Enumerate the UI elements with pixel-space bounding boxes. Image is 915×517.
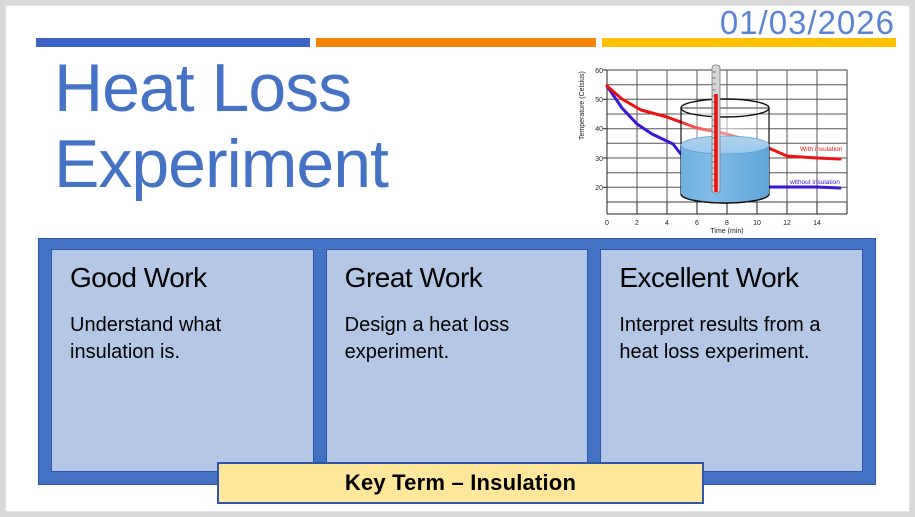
svg-text:0: 0 <box>605 220 609 227</box>
key-term-label: Key Term – Insulation <box>345 470 576 496</box>
svg-text:20: 20 <box>595 185 603 192</box>
page-title: Heat Loss Experiment <box>54 50 524 202</box>
chart-x-axis: 0 2 4 6 8 10 12 14 <box>605 220 821 227</box>
objective-card-excellent: Excellent Work Interpret results from a … <box>600 249 863 472</box>
slide-date: 01/03/2026 <box>720 6 895 42</box>
objectives-panel: Good Work Understand what insulation is.… <box>38 238 876 485</box>
svg-text:40: 40 <box>595 126 603 133</box>
objective-title: Excellent Work <box>619 264 846 292</box>
objective-body: Design a heat loss experiment. <box>345 312 572 366</box>
legend-with-insulation: With insulation <box>800 146 843 153</box>
thermometer-icon <box>712 65 720 193</box>
beaker-illustration <box>681 99 769 203</box>
svg-text:6: 6 <box>695 220 699 227</box>
svg-text:50: 50 <box>595 97 603 104</box>
key-term-banner: Key Term – Insulation <box>217 462 704 504</box>
objective-body: Understand what insulation is. <box>70 312 297 366</box>
svg-text:4: 4 <box>665 220 669 227</box>
svg-text:12: 12 <box>783 220 791 227</box>
chart-y-axis-label: Temperature (Celsius) <box>579 71 586 140</box>
svg-text:10: 10 <box>753 220 761 227</box>
svg-text:60: 60 <box>595 68 603 75</box>
legend-without-insulation: without insulation <box>789 179 840 186</box>
accent-rule-yellow <box>602 38 896 47</box>
objective-title: Great Work <box>345 264 572 292</box>
slide: 01/03/2026 Heat Loss Experiment <box>6 6 909 511</box>
objective-body: Interpret results from a heat loss exper… <box>619 312 846 366</box>
chart-y-axis: 60 50 40 30 20 <box>595 68 603 192</box>
svg-text:14: 14 <box>813 220 821 227</box>
accent-rule-orange <box>316 38 596 47</box>
svg-text:30: 30 <box>595 156 603 163</box>
chart-x-axis-label: Time (min) <box>710 228 743 234</box>
objective-card-great: Great Work Design a heat loss experiment… <box>326 249 589 472</box>
objective-card-good: Good Work Understand what insulation is. <box>51 249 314 472</box>
objective-title: Good Work <box>70 264 297 292</box>
svg-text:8: 8 <box>725 220 729 227</box>
accent-rule-blue <box>36 38 310 47</box>
svg-text:2: 2 <box>635 220 639 227</box>
heat-loss-chart-figure: 60 50 40 30 20 Temperature (Celsius) <box>562 62 860 234</box>
